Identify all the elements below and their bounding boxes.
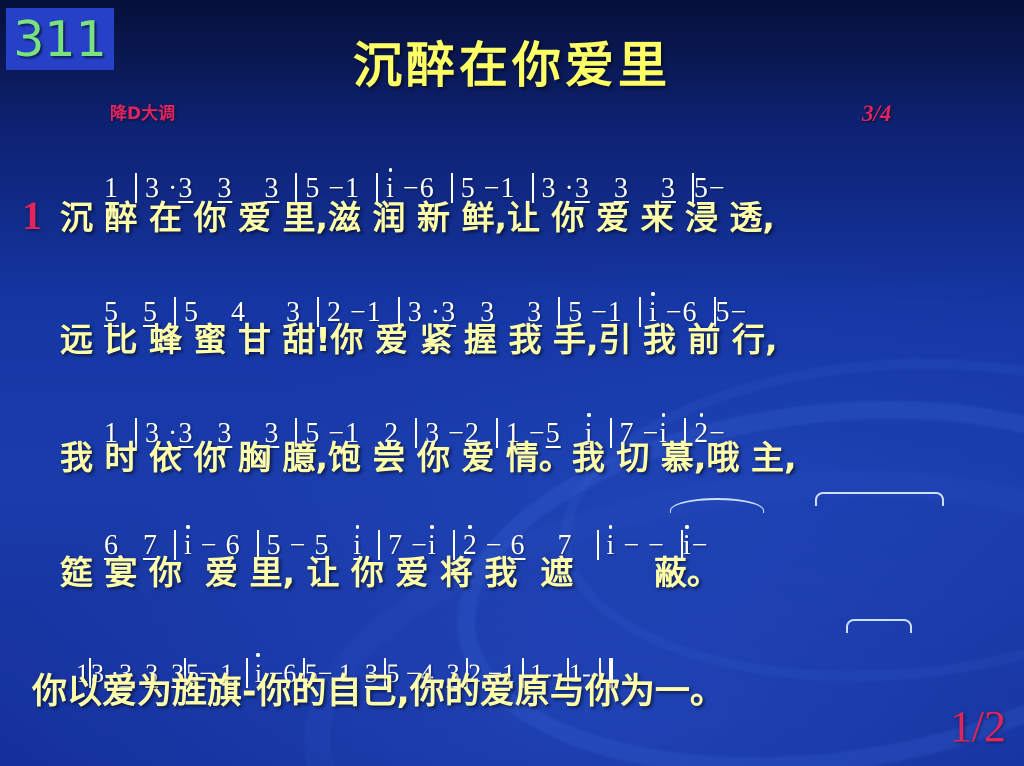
time-signature-label: 3/4 [862, 101, 891, 126]
lyric-line-3: 我 时 依 你 胸 臆,饱 尝 你 爱 情。我 切 慕,哦 主, [0, 438, 1024, 478]
page-title: 沉醉在你爱里 [0, 38, 1024, 94]
lyric-line-5: 你以爱为旌旗-你的自己,你的爱原与你为一。 [0, 672, 1024, 712]
key-signature-label: 降D大调 [110, 104, 175, 124]
page-indicator: 1/2 [950, 704, 1006, 750]
slur-arc [670, 498, 764, 513]
lyric-line-2: 远 比 蜂 蜜 甘 甜!你 爱 紧 握 我 手,引 我 前 行, [0, 320, 1024, 360]
bracket-arc [846, 619, 912, 633]
lyric-line-4: 筵 宴 你 爱 里, 让 你 爱 将 我 遮 蔽。 [0, 553, 1024, 593]
lyric-line-1: 沉 醉 在 你 爱 里,滋 润 新 鲜,让 你 爱 来 浸 透, [0, 198, 1024, 238]
bracket-arc [815, 492, 944, 506]
slide-canvas: 311 沉醉在你爱里 降D大调 3/4 1 3 ·3 3 3 5 −1 i −6… [0, 0, 1024, 766]
